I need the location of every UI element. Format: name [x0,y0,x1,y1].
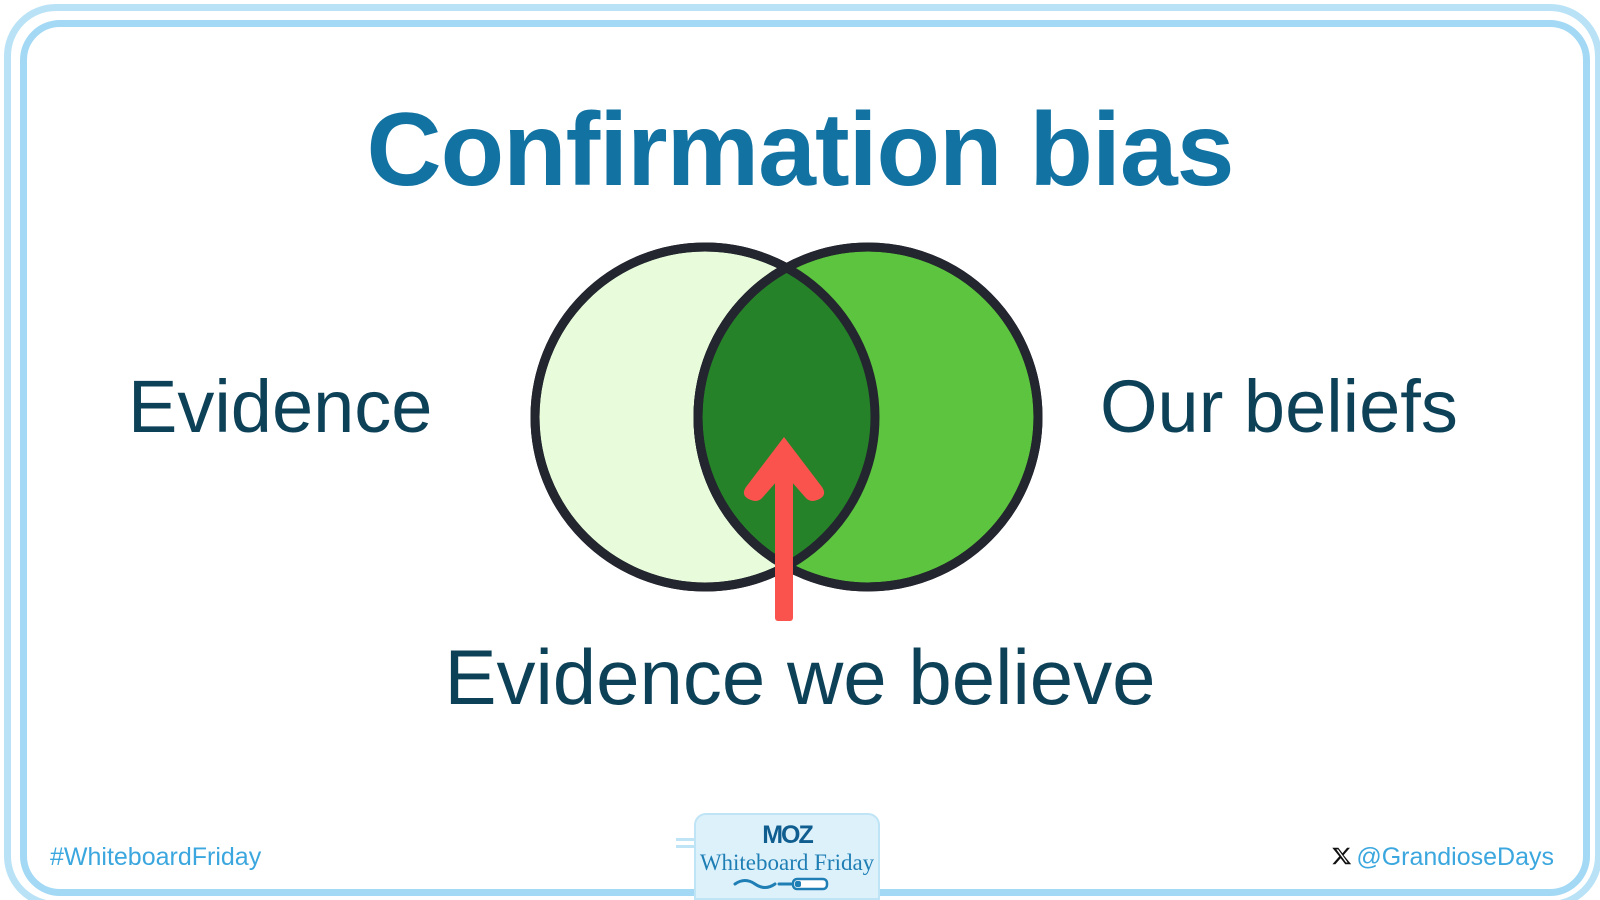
moz-wordmark: MOZ [696,823,878,848]
whiteboard-canvas: Confirmation bias [0,0,1600,900]
footer-handle[interactable]: @GrandioseDays [1331,843,1554,872]
whiteboard-marker-icon [696,876,878,894]
whiteboard-friday-wordmark: Whiteboard Friday [696,850,878,875]
footer-handle-text: @GrandioseDays [1356,843,1554,872]
moz-whiteboard-friday-badge[interactable]: MOZ Whiteboard Friday [694,813,880,900]
venn-intersection-caption: Evidence we believe [0,638,1600,716]
x-twitter-icon [1331,845,1353,872]
venn-left-label: Evidence [128,370,432,444]
venn-right-label: Our beliefs [1100,370,1458,444]
badge-side-connector [676,836,696,856]
venn-diagram [470,225,1110,645]
page-title: Confirmation bias [0,96,1600,205]
footer-hashtag[interactable]: #WhiteboardFriday [50,843,261,872]
